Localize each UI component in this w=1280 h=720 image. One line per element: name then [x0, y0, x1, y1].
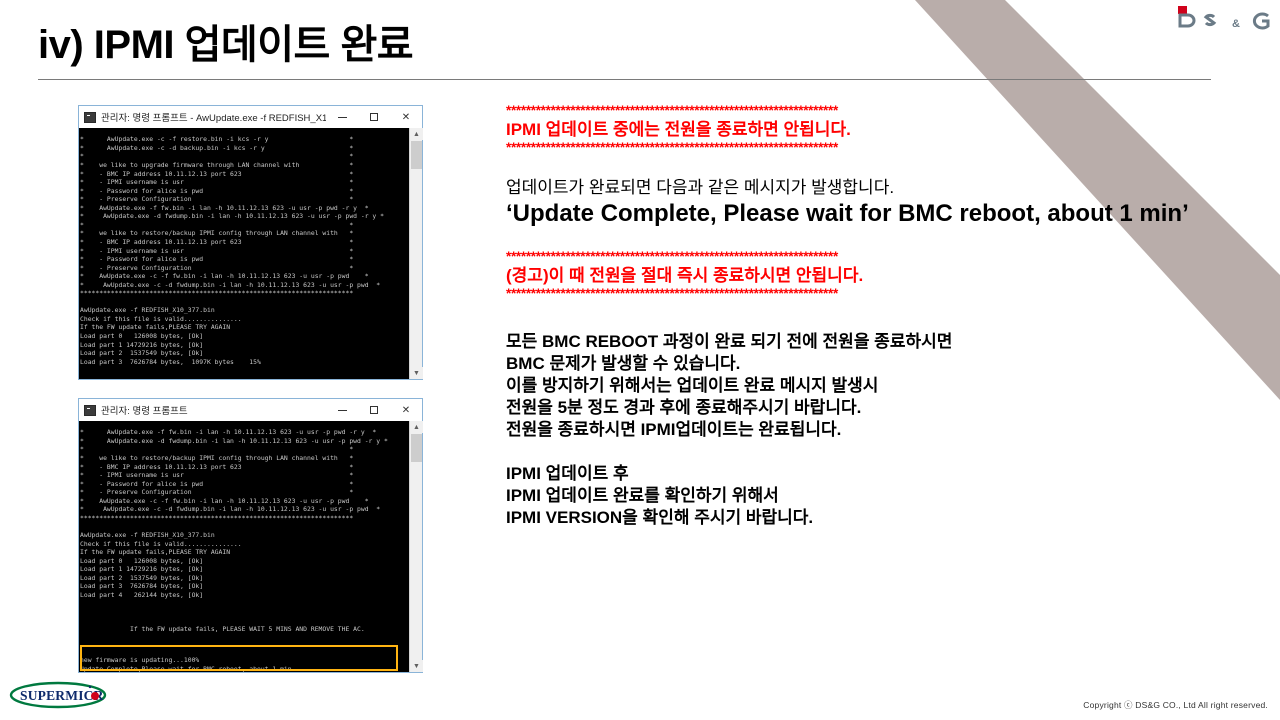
maximize-button[interactable] — [358, 106, 390, 128]
body-paragraph-1-line-5: 전원을 종료하시면 IPMI업데이트는 완료됩니다. — [506, 419, 1226, 441]
scroll-down-icon[interactable]: ▼ — [410, 660, 423, 672]
console-2-text-area: * AwUpdate.exe -f fw.bin -i lan -h 10.11… — [79, 421, 409, 672]
title-divider — [38, 79, 1211, 80]
separator-stars-2: ****************************************… — [506, 141, 1226, 155]
maximize-button[interactable] — [358, 399, 390, 421]
scrollbar-thumb[interactable] — [411, 434, 422, 462]
scroll-down-icon[interactable]: ▼ — [410, 367, 423, 379]
console-1-body: * AwUpdate.exe -c -f restore.bin -i kcs … — [79, 128, 422, 379]
close-icon[interactable]: ✕ — [390, 399, 422, 421]
body-paragraph-1-line-2: BMC 문제가 발생할 수 있습니다. — [506, 353, 1226, 375]
content-column: ****************************************… — [506, 104, 1226, 529]
svg-text:&: & — [1232, 18, 1240, 30]
console-1-output: * AwUpdate.exe -c -f restore.bin -i kcs … — [79, 134, 409, 372]
copyright-text: Copyright ⓒ DS&G CO., Ltd All right rese… — [1083, 699, 1268, 711]
console-2-output: * AwUpdate.exe -f fw.bin -i lan -h 10.11… — [79, 427, 409, 633]
separator-stars-1: ****************************************… — [506, 104, 1226, 118]
console-2-titlebar[interactable]: 관리자: 명령 프롬프트 ✕ — [79, 399, 422, 421]
warning-text-1: IPMI 업데이트 중에는 전원을 종료하면 안됩니다. — [506, 119, 1226, 141]
spacer — [506, 301, 1226, 331]
console-1-title: 관리자: 명령 프롬프트 - AwUpdate.exe -f REDFISH_X… — [101, 110, 326, 124]
dsg-logo: & — [1176, 4, 1272, 30]
dsg-logo-icon: & — [1176, 4, 1272, 30]
console-1-window-buttons: ✕ — [326, 106, 422, 128]
console-icon — [84, 112, 96, 123]
body-paragraph-2-line-2: IPMI 업데이트 완료를 확인하기 위해서 — [506, 485, 1226, 507]
body-paragraph-1-line-4: 전원을 5분 정도 경과 후에 종료해주시기 바랍니다. — [506, 397, 1226, 419]
warning-text-2: (경고)이 때 전원을 절대 즉시 종료하시면 안됩니다. — [506, 265, 1226, 287]
body-paragraph-2-line-3: IPMI VERSION을 확인해 주시기 바랍니다. — [506, 507, 1226, 529]
console-icon — [84, 405, 96, 416]
minimize-button[interactable] — [326, 106, 358, 128]
page-title: iv) IPMI 업데이트 완료 — [38, 12, 413, 70]
separator-stars-3: ****************************************… — [506, 250, 1226, 264]
close-icon[interactable]: ✕ — [390, 106, 422, 128]
body-paragraph-2-line-1: IPMI 업데이트 후 — [506, 463, 1226, 485]
console-1-titlebar[interactable]: 관리자: 명령 프롬프트 - AwUpdate.exe -f REDFISH_X… — [79, 106, 422, 128]
separator-stars-4: ****************************************… — [506, 287, 1226, 301]
completion-message-quote: ‘Update Complete, Please wait for BMC re… — [506, 200, 1226, 228]
scrollbar-thumb[interactable] — [411, 141, 422, 169]
console-window-2[interactable]: 관리자: 명령 프롬프트 ✕ * AwUpdate.exe -f fw.bin … — [78, 398, 423, 673]
console-window-1[interactable]: 관리자: 명령 프롬프트 - AwUpdate.exe -f REDFISH_X… — [78, 105, 423, 380]
body-paragraph-1-line-3: 이를 방지하기 위해서는 업데이트 완료 메시지 발생시 — [506, 375, 1226, 397]
console-2-title: 관리자: 명령 프롬프트 — [101, 403, 326, 417]
intro-text: 업데이트가 완료되면 다음과 같은 메시지가 발생합니다. — [506, 177, 1226, 199]
supermicro-logo: SUPERMICR — [8, 678, 108, 712]
supermicro-logo-icon: SUPERMICR — [8, 678, 108, 712]
console-2-window-buttons: ✕ — [326, 399, 422, 421]
console-2-body: * AwUpdate.exe -f fw.bin -i lan -h 10.11… — [79, 421, 422, 672]
body-paragraph-1-line-1: 모든 BMC REBOOT 과정이 완료 되기 전에 전원을 종료하시면 — [506, 331, 1226, 353]
slide-root: & iv) IPMI 업데이트 완료 관리자: 명령 프롬프트 - AwUpda… — [0, 0, 1280, 720]
minimize-button[interactable] — [326, 399, 358, 421]
console-2-highlight-line-2: Update Complete,Please wait for BMC rebo… — [79, 664, 292, 672]
console-2-scrollbar[interactable]: ▲ ▼ — [409, 421, 422, 672]
scroll-up-icon[interactable]: ▲ — [410, 128, 423, 140]
spacer — [506, 441, 1226, 463]
spacer — [506, 228, 1226, 250]
console-1-scrollbar[interactable]: ▲ ▼ — [409, 128, 422, 379]
spacer — [506, 155, 1226, 177]
scroll-up-icon[interactable]: ▲ — [410, 421, 423, 433]
